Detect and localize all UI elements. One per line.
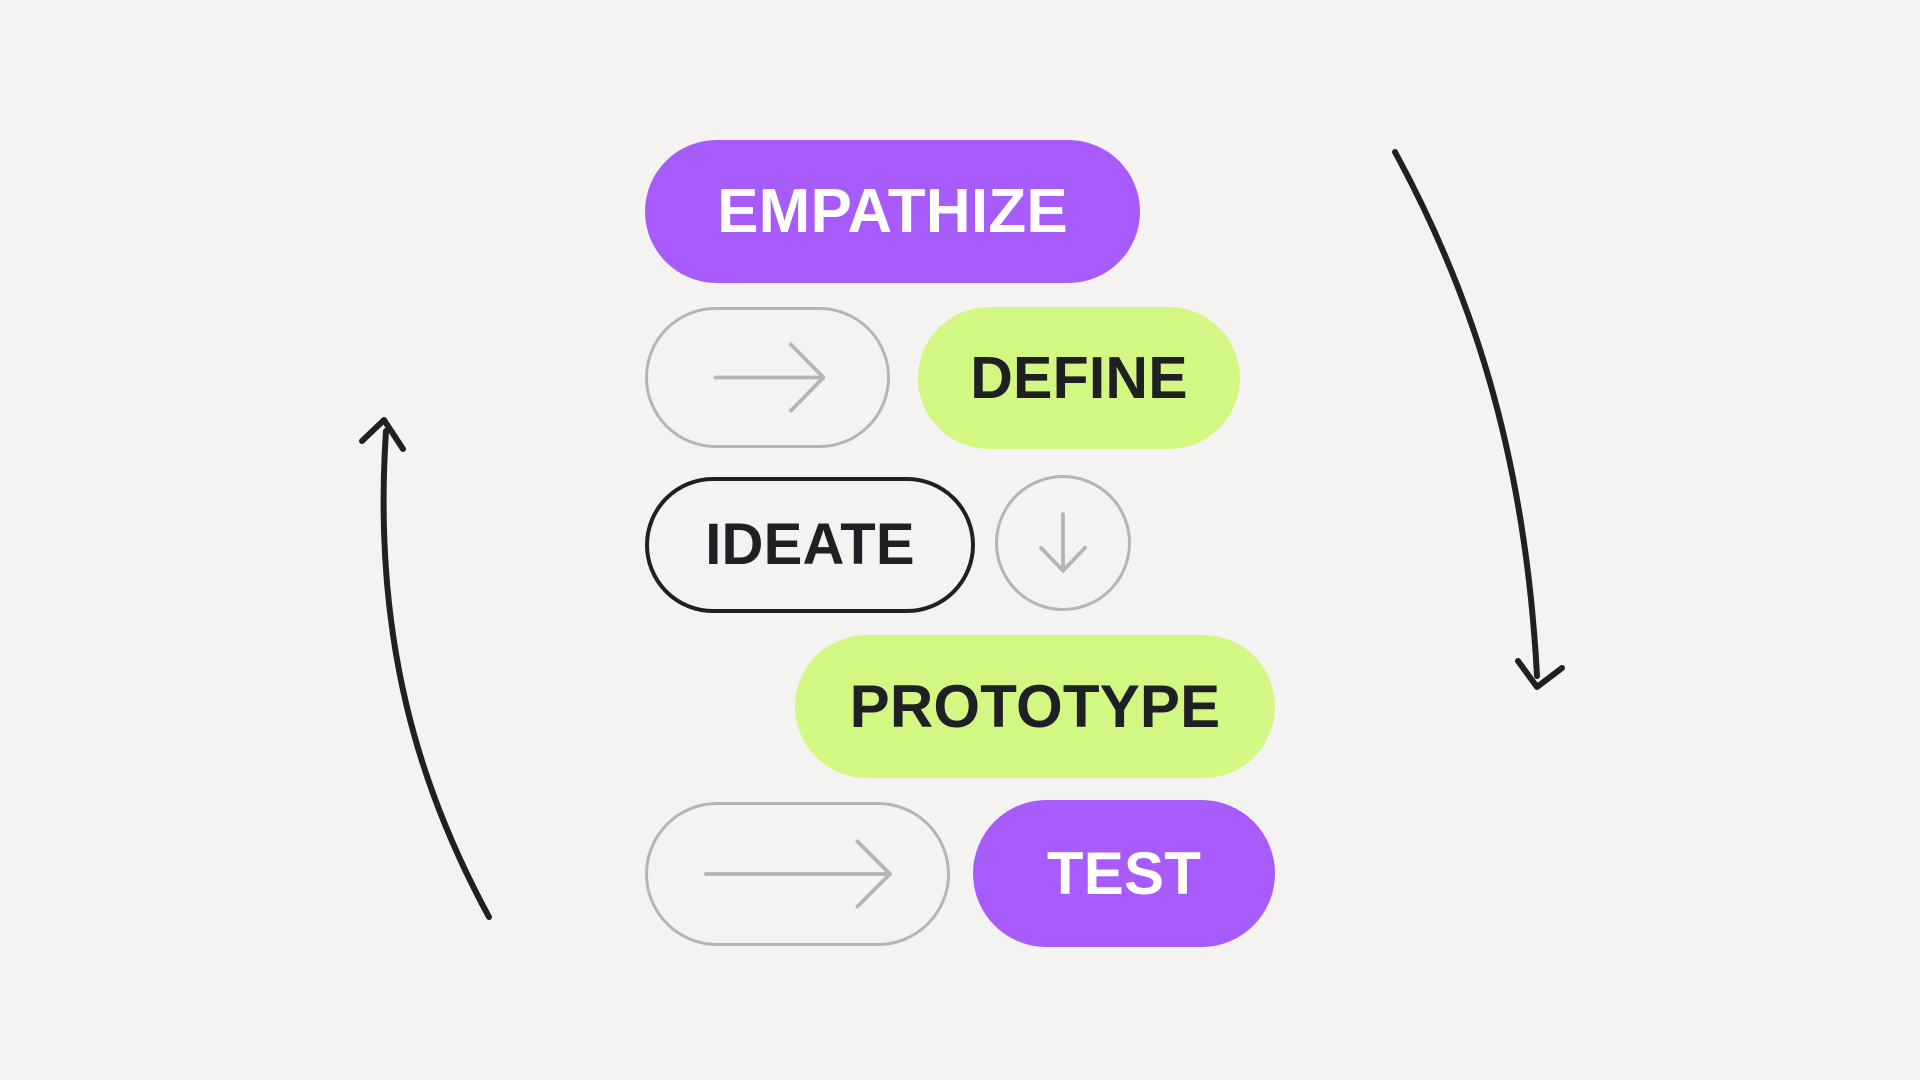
- connector-circle-arrow-down[interactable]: [995, 475, 1131, 611]
- stage-pill-ideate[interactable]: IDEATE: [645, 477, 975, 613]
- stage-label-define: DEFINE: [970, 349, 1188, 408]
- connector-pill-empathize-to-define[interactable]: [645, 307, 890, 448]
- arrow-right-icon: [648, 310, 887, 445]
- stage-label-empathize: EMPATHIZE: [717, 181, 1068, 243]
- stage-label-test: TEST: [1047, 844, 1201, 904]
- arrow-right-icon: [648, 805, 947, 943]
- stage-pill-test[interactable]: TEST: [973, 800, 1275, 947]
- stage-pill-define[interactable]: DEFINE: [918, 307, 1240, 449]
- stage-label-prototype: PROTOTYPE: [850, 677, 1221, 737]
- arrow-down-icon: [998, 478, 1128, 608]
- stage-pill-empathize[interactable]: EMPATHIZE: [645, 140, 1140, 283]
- connector-pill-prototype-to-test[interactable]: [645, 802, 950, 946]
- stage-pill-prototype[interactable]: PROTOTYPE: [795, 635, 1275, 778]
- stage-label-ideate: IDEATE: [705, 516, 915, 574]
- loop-arrow-right-descending: [1395, 152, 1562, 687]
- diagram-canvas: EMPATHIZE DEFINE IDEATE PROTOTYPE TEST: [0, 0, 1920, 1080]
- loop-arrow-left-ascending: [362, 420, 489, 917]
